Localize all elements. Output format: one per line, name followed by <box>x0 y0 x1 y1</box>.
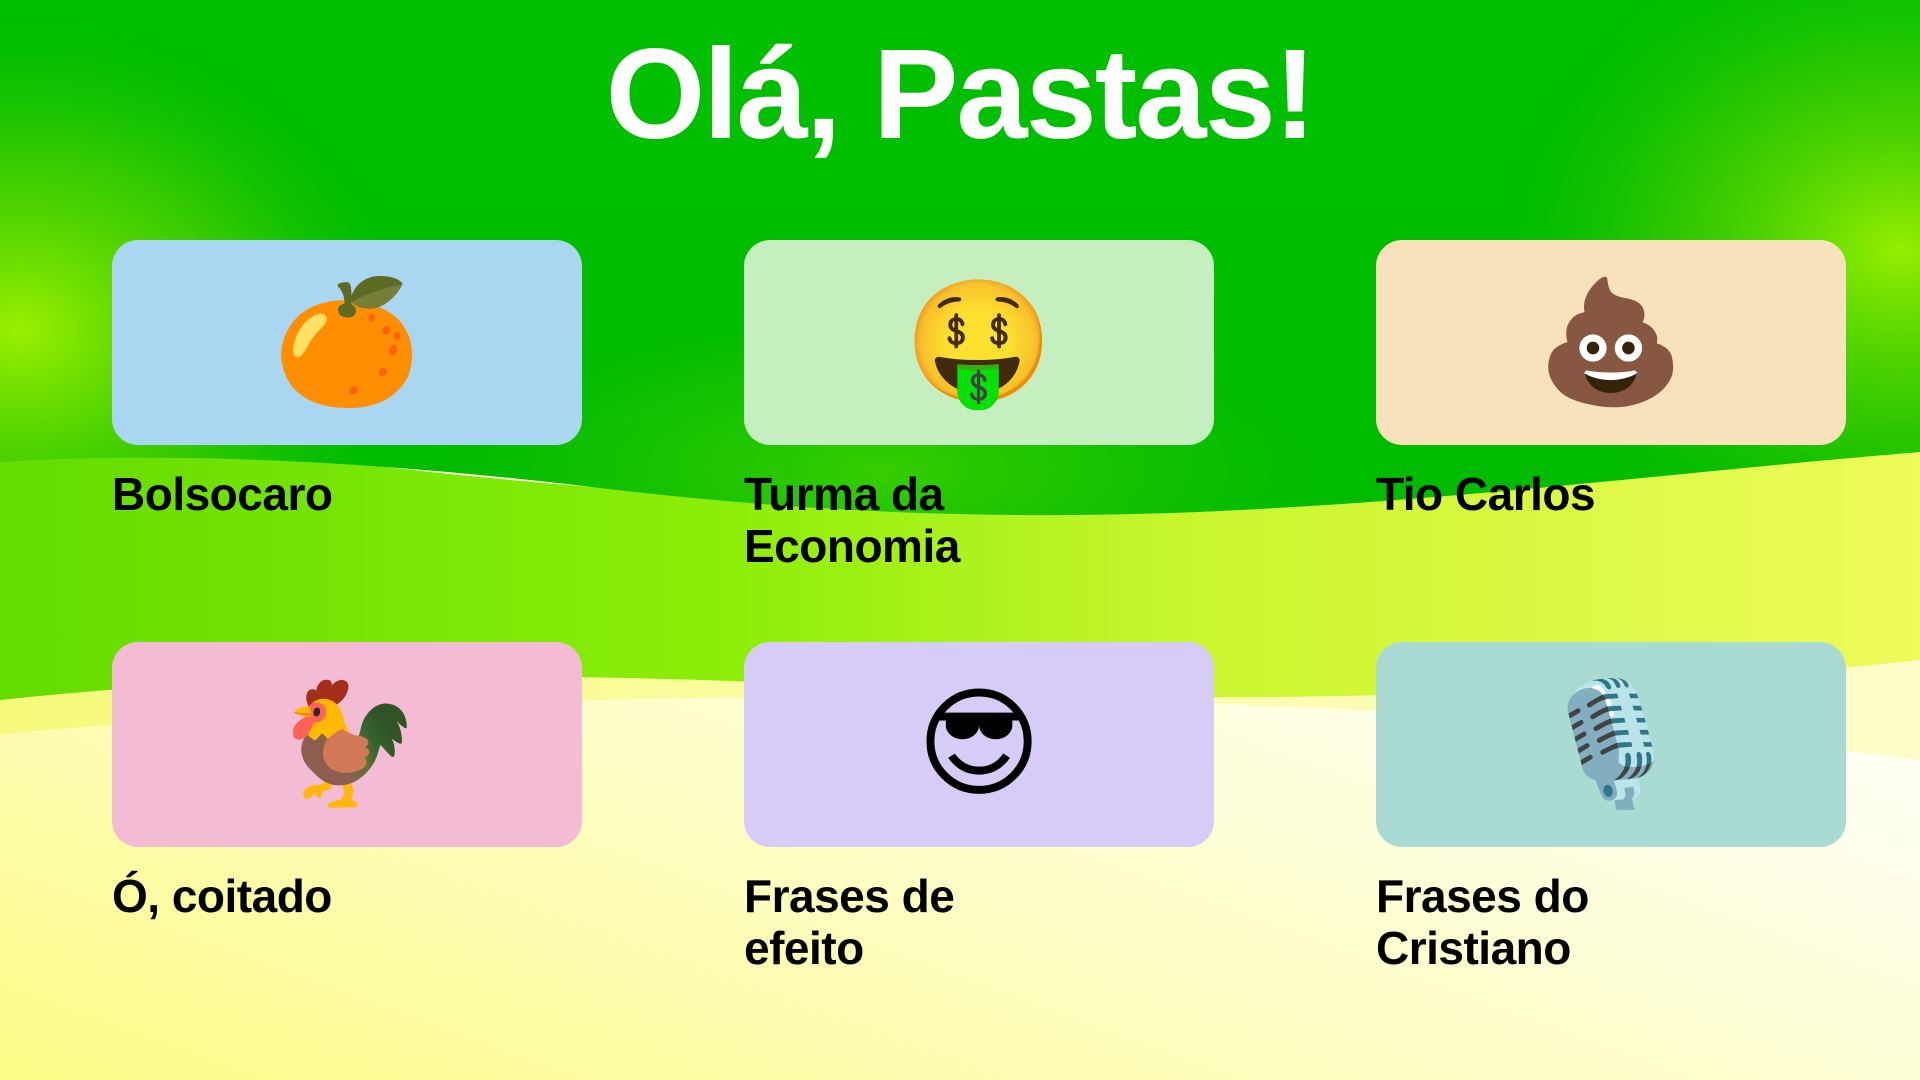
folder-card[interactable]: 💩 Tio Carlos <box>1376 240 1846 572</box>
folder-tile[interactable]: 😎 <box>744 642 1214 847</box>
folder-card[interactable]: 🤑 Turma da Economia <box>744 240 1214 572</box>
page-title: Olá, Pastas! <box>0 28 1920 162</box>
folder-label: Frases de efeito <box>744 871 1074 974</box>
folder-card[interactable]: 🐓 Ó, coitado <box>112 642 582 974</box>
folder-tile[interactable]: 🐓 <box>112 642 582 847</box>
folder-tile[interactable]: 🎙️ <box>1376 642 1846 847</box>
smiling-face-with-sunglasses-icon: 😎 <box>916 685 1041 805</box>
folder-label: Frases do Cristiano <box>1376 871 1706 974</box>
folder-card[interactable]: 🍊 Bolsocaro <box>112 240 582 572</box>
folder-card[interactable]: 😎 Frases de efeito <box>744 642 1214 974</box>
folder-label: Turma da Economia <box>744 469 1074 572</box>
folder-grid: 🍊 Bolsocaro 🤑 Turma da Economia 💩 Tio Ca… <box>112 240 1840 974</box>
studio-microphone-icon: 🎙️ <box>1536 685 1685 805</box>
presentation-slide: Olá, Pastas! 🍊 Bolsocaro 🤑 Turma da Econ… <box>0 0 1920 1080</box>
folder-label: Ó, coitado <box>112 871 442 923</box>
folder-label: Tio Carlos <box>1376 469 1706 521</box>
rooster-icon: 🐓 <box>272 685 421 805</box>
folder-tile[interactable]: 🤑 <box>744 240 1214 445</box>
pile-of-poo-icon: 💩 <box>1536 283 1685 403</box>
folder-label: Bolsocaro <box>112 469 442 521</box>
folder-card[interactable]: 🎙️ Frases do Cristiano <box>1376 642 1846 974</box>
money-mouth-face-icon: 🤑 <box>904 283 1053 403</box>
tangerine-icon: 🍊 <box>272 283 421 403</box>
folder-tile[interactable]: 🍊 <box>112 240 582 445</box>
folder-tile[interactable]: 💩 <box>1376 240 1846 445</box>
